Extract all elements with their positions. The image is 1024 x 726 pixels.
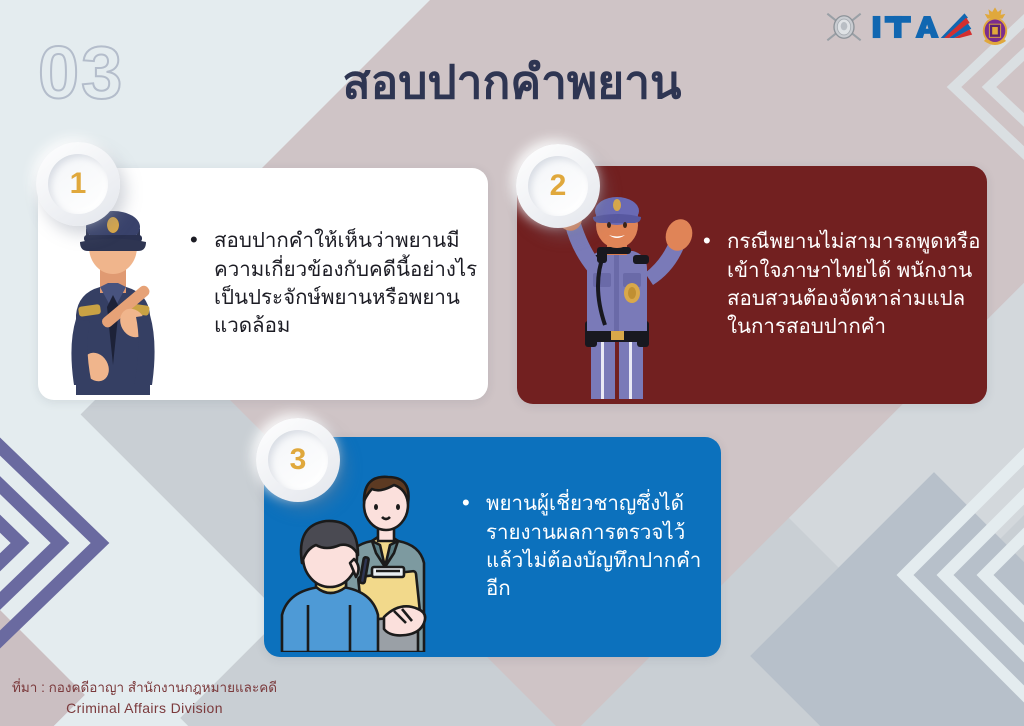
card-2-text: กรณีพยานไม่สามารถพูดหรือเข้าใจภาษาไทยได้… <box>701 228 987 341</box>
card-3-number-badge: 3 <box>256 418 340 502</box>
police-emblem-logo <box>824 7 864 47</box>
source-footer: ที่มา : กองคดีอาญา สำนักงานกฎหมายและคดี … <box>12 678 277 718</box>
card-1-text: สอบปากคำให้เห็นว่าพยานมีความเกี่ยวข้องกั… <box>188 227 488 340</box>
ita-logo <box>871 10 973 44</box>
card-2-number-badge: 2 <box>516 144 600 228</box>
card-1-number-badge: 1 <box>36 142 120 226</box>
card-2-number: 2 <box>550 169 567 203</box>
logo-group <box>824 6 1010 48</box>
card-3-text: พยานผู้เชี่ยวชาญซึ่งได้รายงานผลการตรวจไว… <box>460 490 721 603</box>
royal-thai-police-emblem-logo <box>980 6 1010 48</box>
chevron-pattern-right-icon <box>850 420 1024 726</box>
footer-line-2: Criminal Affairs Division <box>12 698 277 718</box>
card-1-number: 1 <box>70 167 87 201</box>
chevron-pattern-left-icon <box>0 398 170 698</box>
police-officer-illustration <box>38 195 188 400</box>
footer-line-1: ที่มา : กองคดีอาญา สำนักงานกฎหมายและคดี <box>12 678 277 698</box>
card-3-number: 3 <box>290 443 307 477</box>
page-title: สอบปากคำพยาน <box>0 46 1024 119</box>
